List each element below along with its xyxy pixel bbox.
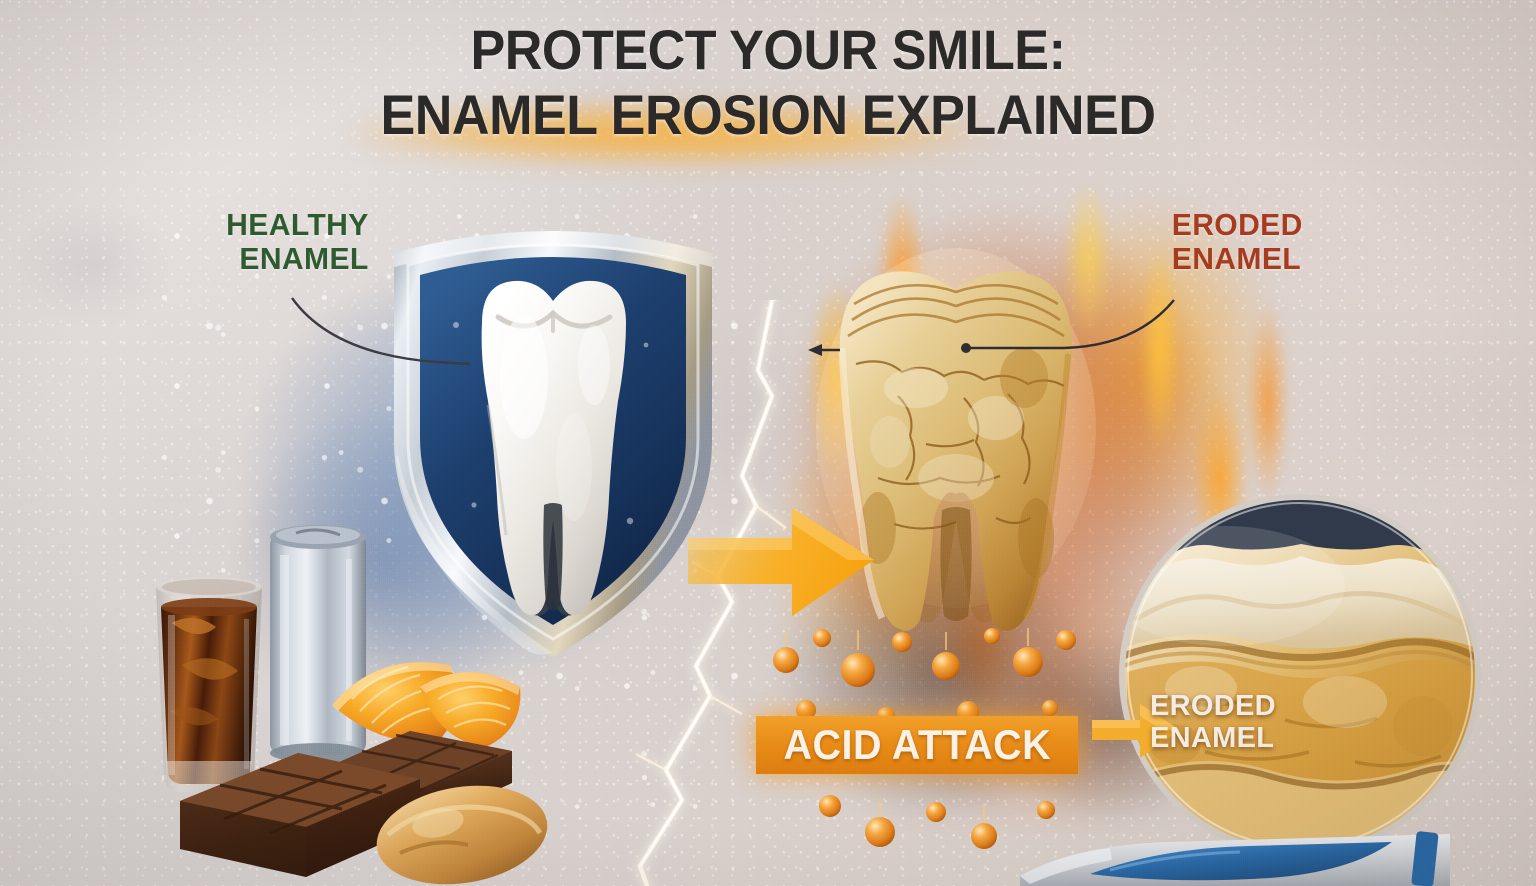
toothpaste-tube-icon	[1020, 828, 1450, 886]
protective-shield-with-healthy-tooth	[378, 205, 728, 665]
magnifier-label-line2: ENAMEL	[1150, 722, 1360, 754]
transition-arrow-right-icon	[688, 498, 878, 628]
healthy-label-line2: ENAMEL	[153, 242, 368, 276]
magnifier-eroded-enamel-label: ERODED ENAMEL	[1150, 690, 1360, 755]
healthy-enamel-label: HEALTHY ENAMEL	[153, 208, 368, 276]
title-line-1: PROTECT YOUR SMILE:	[54, 18, 1482, 83]
title-line-2: ENAMEL EROSION EXPLAINED	[54, 83, 1482, 148]
acid-attack-banner: ACID ATTACK	[756, 716, 1078, 774]
eroded-label-line2: ENAMEL	[1172, 242, 1415, 276]
page-title: PROTECT YOUR SMILE: ENAMEL EROSION EXPLA…	[0, 18, 1536, 148]
acid-attack-label: ACID ATTACK	[783, 721, 1051, 769]
infographic-poster: ERODED ENAMEL	[0, 0, 1536, 886]
magnifier-label-line1: ERODED	[1150, 690, 1360, 722]
eroded-label-line1: ERODED	[1172, 208, 1415, 242]
healthy-label-line1: HEALTHY	[153, 208, 368, 242]
magnifier-circle	[1105, 480, 1495, 870]
cola-glass-icon	[156, 577, 262, 792]
eroded-enamel-label: ERODED ENAMEL	[1172, 208, 1415, 276]
